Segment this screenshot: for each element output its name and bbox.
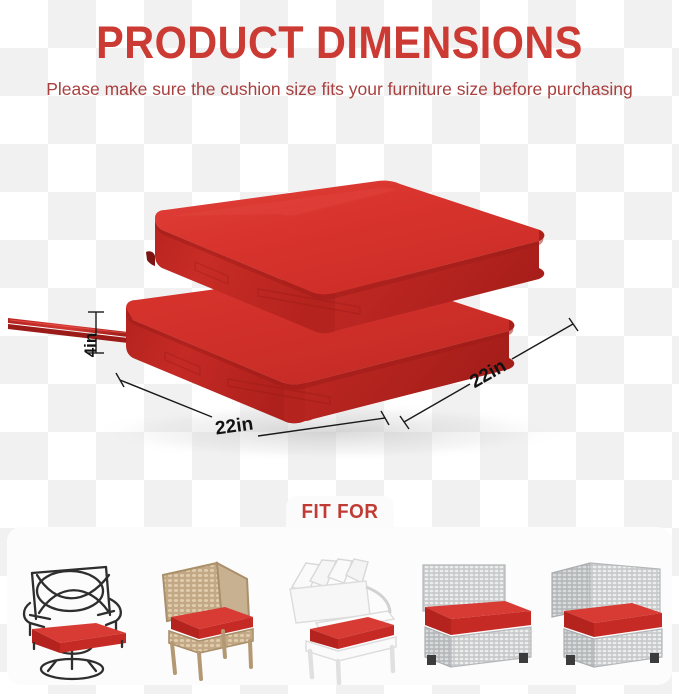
cushion-dimension-illustration: 4in 22in 22in [0, 140, 679, 488]
product-dimensions-infographic: PRODUCT DIMENSIONS Please make sure the … [0, 0, 679, 694]
cushion-tie-straps [8, 318, 128, 343]
page-subtitle: Please make sure the cushion size fits y… [0, 68, 679, 102]
page-title: PRODUCT DIMENSIONS [27, 0, 652, 68]
fit-for-items-row [7, 527, 672, 685]
swivel-chair-cushion [32, 623, 126, 653]
fit-for-item-swivel-chair [10, 553, 138, 685]
sectional-foot [650, 653, 659, 663]
label-thickness: 4in [81, 333, 100, 358]
fit-for-item-wicker-armchair [143, 553, 271, 685]
sectional-foot [566, 655, 575, 665]
fit-for-label: FIT FOR [301, 501, 378, 524]
sectional-foot [427, 655, 436, 665]
fit-for-badge: FIT FOR [286, 496, 394, 528]
fit-for-item-corner-sectional [542, 553, 670, 685]
sectional-foot [519, 653, 528, 663]
fit-for-item-adirondack-chair [276, 553, 404, 685]
header: PRODUCT DIMENSIONS Please make sure the … [0, 0, 679, 102]
fit-for-item-armless-sectional [409, 553, 537, 685]
fit-for-panel [7, 527, 672, 685]
